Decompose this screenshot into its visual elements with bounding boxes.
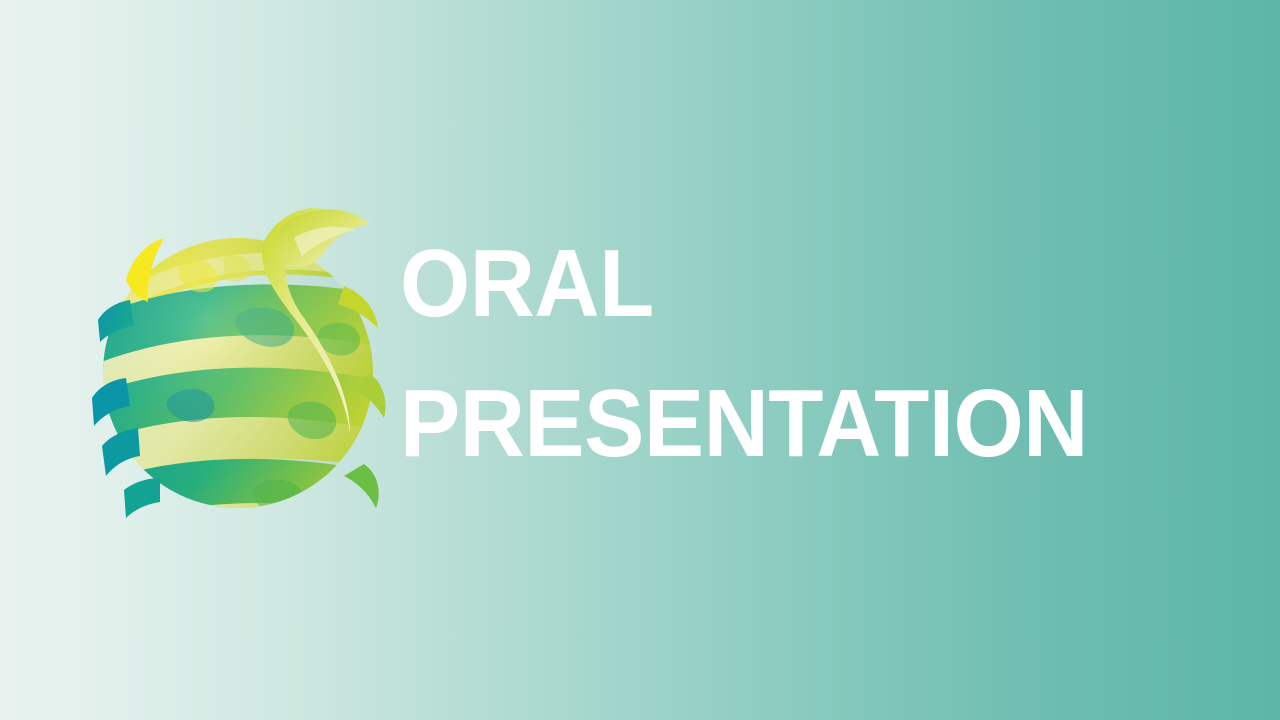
headline-line-oral: ORAL xyxy=(400,236,1152,332)
slide-canvas: ORAL PRESENTATION xyxy=(0,0,1280,720)
globe-ribbon-leaf-logo xyxy=(88,198,388,523)
headline-block: ORAL PRESENTATION xyxy=(400,236,1200,472)
headline-line-presentation: PRESENTATION xyxy=(400,376,1152,472)
